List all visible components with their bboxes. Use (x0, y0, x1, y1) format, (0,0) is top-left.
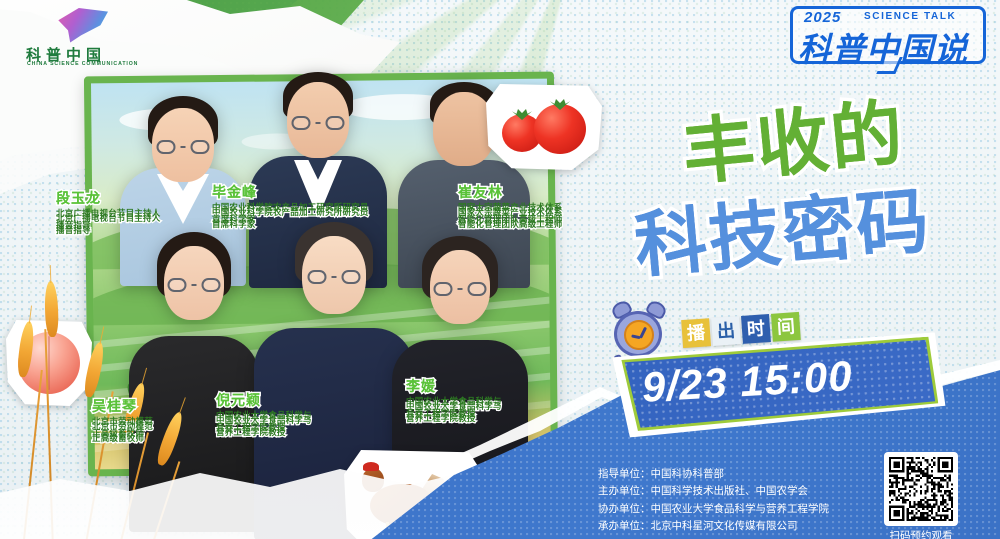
logo-name-en: CHINA SCIENCE COMMUNICATION (27, 61, 138, 67)
broadcast-label-char: 出 (711, 316, 741, 346)
qr-code[interactable] (884, 452, 958, 526)
broadcast-label-char: 间 (771, 312, 801, 342)
broadcast-label-char: 播 (681, 318, 711, 348)
china-science-communication-logo: 科普中国 CHINA SCIENCE COMMUNICATION (24, 8, 154, 70)
title-line-2: 科技密码 (630, 161, 934, 291)
tomatoes-sticker (498, 96, 590, 158)
alarm-clock-icon (608, 300, 670, 362)
credit-line: 主办单位：中国科学技术出版社、中国农学会 (598, 483, 829, 500)
speaker-nametag-4: 吴桂琴吴桂琴 北京市劳动模范北京市劳动模范 正高级畜牧师正高级畜牧师 (92, 398, 153, 440)
qr-caption: 扫码预约观看 (868, 528, 974, 539)
credit-line: 协办单位：中国农业大学食品科学与营养工程学院 (598, 501, 829, 518)
speaker-nametag-2: 毕金峰毕金峰 中国农业科学院农产品加工研究所研究员中国农业科学院农产品加工研究所… (212, 184, 369, 226)
qr-code-image (889, 457, 953, 521)
poster-root: 段玉龙段玉龙 北京广播电视台节目主持人北京广播电视台节目主持人 播音指导播音指导… (0, 0, 1000, 539)
logo-tagline-en: SCIENCE TALK (864, 11, 956, 22)
speaker-nametag-1: 段玉龙段玉龙 北京广播电视台节目主持人北京广播电视台节目主持人 播音指导播音指导 (56, 190, 160, 232)
main-title: 丰收的 丰收的 科技密码 科技密码 (620, 78, 1000, 293)
logo-title-cn: 科普中国说 (798, 23, 968, 71)
credit-line: 承办单位：北京中科星河文化传媒有限公司 (598, 518, 829, 535)
science-talk-logo: 2025 SCIENCE TALK 科普中国说 (790, 6, 986, 64)
butterfly-gradient-icon (54, 8, 108, 44)
speaker-nametag-5: 倪元颖倪元颖 中国农业大学食品科学与中国农业大学食品科学与 营养工程学院教授营养… (216, 392, 312, 434)
speaker-nametag-6: 李媛李媛 中国农业大学食品科学与中国农业大学食品科学与 营养工程学院教授营养工程… (406, 378, 502, 420)
speaker-nametag-3: 崔友林崔友林 国家大宗蔬菜产业技术体系国家大宗蔬菜产业技术体系 智能化管理团队高… (458, 184, 562, 226)
credit-line: 指导单位：中国科协科普部 (598, 466, 829, 483)
broadcast-label-char: 时 (741, 314, 771, 344)
credits-block: 指导单位：中国科协科普部 主办单位：中国科学技术出版社、中国农学会 协办单位：中… (598, 466, 829, 535)
